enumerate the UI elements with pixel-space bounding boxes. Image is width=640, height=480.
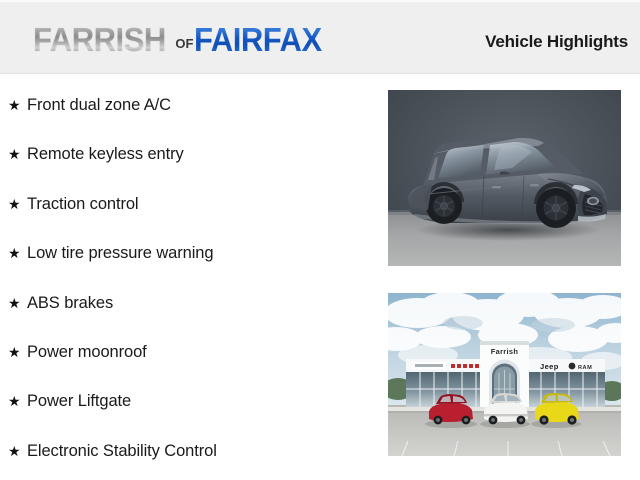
feature-label: Power moonroof [27, 342, 147, 362]
star-bullet-icon: ★ [8, 441, 27, 461]
dealer-logo[interactable]: FARRISH OF FAIRFAX [33, 22, 330, 58]
dealership-photo[interactable]: Jeep RAM Farrish [388, 293, 621, 456]
star-bullet-icon: ★ [8, 293, 27, 313]
feature-label: Power Liftgate [27, 391, 131, 411]
logo-text-of: OF [175, 36, 193, 51]
list-item: ★ Remote keyless entry [0, 144, 370, 193]
logo-text-farrish: FARRISH [33, 21, 166, 59]
feature-label: Low tire pressure warning [27, 243, 213, 263]
star-bullet-icon: ★ [8, 243, 27, 263]
vehicle-highlights-page: FARRISH OF FAIRFAX Vehicle Highlights ★ … [0, 0, 640, 480]
feature-label: Electronic Stability Control [27, 441, 217, 461]
dealership-photo-graphic: Jeep RAM Farrish [388, 293, 621, 456]
list-item: ★ Front dual zone A/C [0, 95, 370, 144]
page-header: FARRISH OF FAIRFAX Vehicle Highlights [0, 0, 640, 74]
vehicle-photo-graphic [388, 90, 621, 266]
feature-label: ABS brakes [27, 293, 113, 313]
star-bullet-icon: ★ [8, 95, 27, 115]
star-bullet-icon: ★ [8, 342, 27, 362]
logo-text-fairfax: FAIRFAX [194, 21, 322, 59]
star-bullet-icon: ★ [8, 194, 27, 214]
list-item: ★ Power moonroof [0, 342, 370, 391]
svg-text:RAM: RAM [578, 365, 592, 371]
list-item: ★ Power Liftgate [0, 391, 370, 440]
vehicle-photo[interactable] [388, 90, 621, 266]
list-item: ★ Electronic Stability Control [0, 441, 370, 480]
feature-label: Traction control [27, 194, 139, 214]
list-item: ★ Traction control [0, 194, 370, 243]
star-bullet-icon: ★ [8, 391, 27, 411]
list-item: ★ ABS brakes [0, 293, 370, 342]
feature-label: Front dual zone A/C [27, 95, 171, 115]
list-item: ★ Low tire pressure warning [0, 243, 370, 292]
svg-text:Farrish: Farrish [491, 347, 519, 356]
feature-label: Remote keyless entry [27, 144, 184, 164]
vehicle-highlights-list: ★ Front dual zone A/C ★ Remote keyless e… [0, 74, 370, 480]
page-title: Vehicle Highlights [485, 32, 628, 52]
star-bullet-icon: ★ [8, 144, 27, 164]
svg-text:Jeep: Jeep [540, 362, 559, 371]
